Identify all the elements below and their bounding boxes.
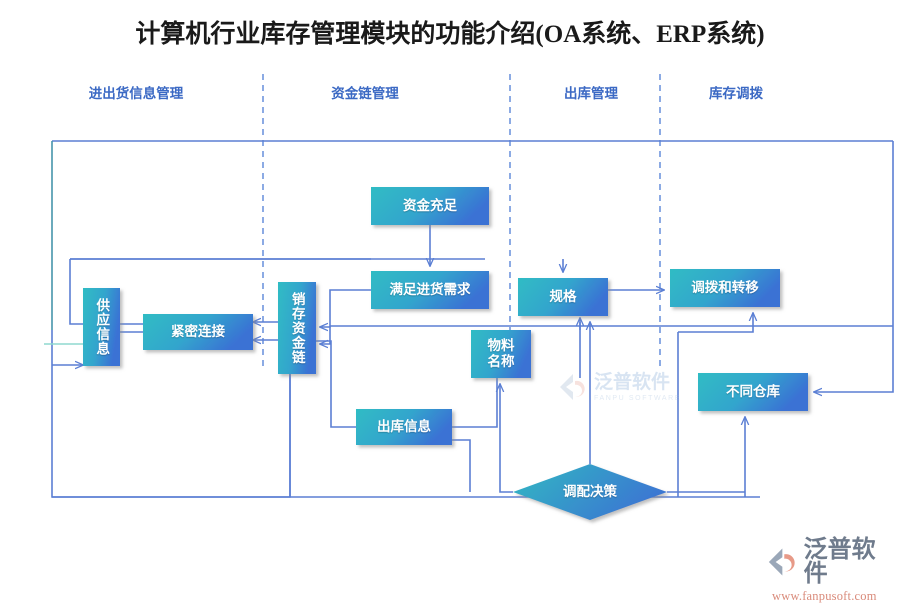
node-funds-ample-shape	[371, 187, 489, 225]
node-diff-warehouse-shape	[698, 373, 808, 411]
node-transfer-move-shape	[670, 269, 780, 307]
node-spec-shape	[518, 278, 608, 316]
node-tight-link-shape	[143, 314, 253, 350]
node-alloc-decision-shape	[513, 464, 667, 520]
fanpu-mark-icon	[766, 545, 801, 579]
node-sales-chain-shape	[278, 282, 316, 374]
flow-diagram	[0, 0, 900, 600]
brand-logo-row: 泛普软件	[766, 538, 896, 586]
brand-logo: 泛普软件 www.fanpusoft.com	[766, 538, 896, 596]
node-outbound-info-shape	[356, 409, 452, 445]
node-material-name-shape	[471, 330, 531, 378]
diagram-canvas: 计算机行业库存管理模块的功能介绍(OA系统、ERP系统) 进出货信息管理 资金链…	[0, 0, 900, 600]
brand-logo-url: www.fanpusoft.com	[772, 589, 877, 604]
node-meet-demand-shape	[371, 271, 489, 309]
node-shapes	[83, 187, 808, 520]
brand-logo-name: 泛普软件	[804, 538, 896, 586]
node-supply-info-shape	[83, 288, 120, 366]
